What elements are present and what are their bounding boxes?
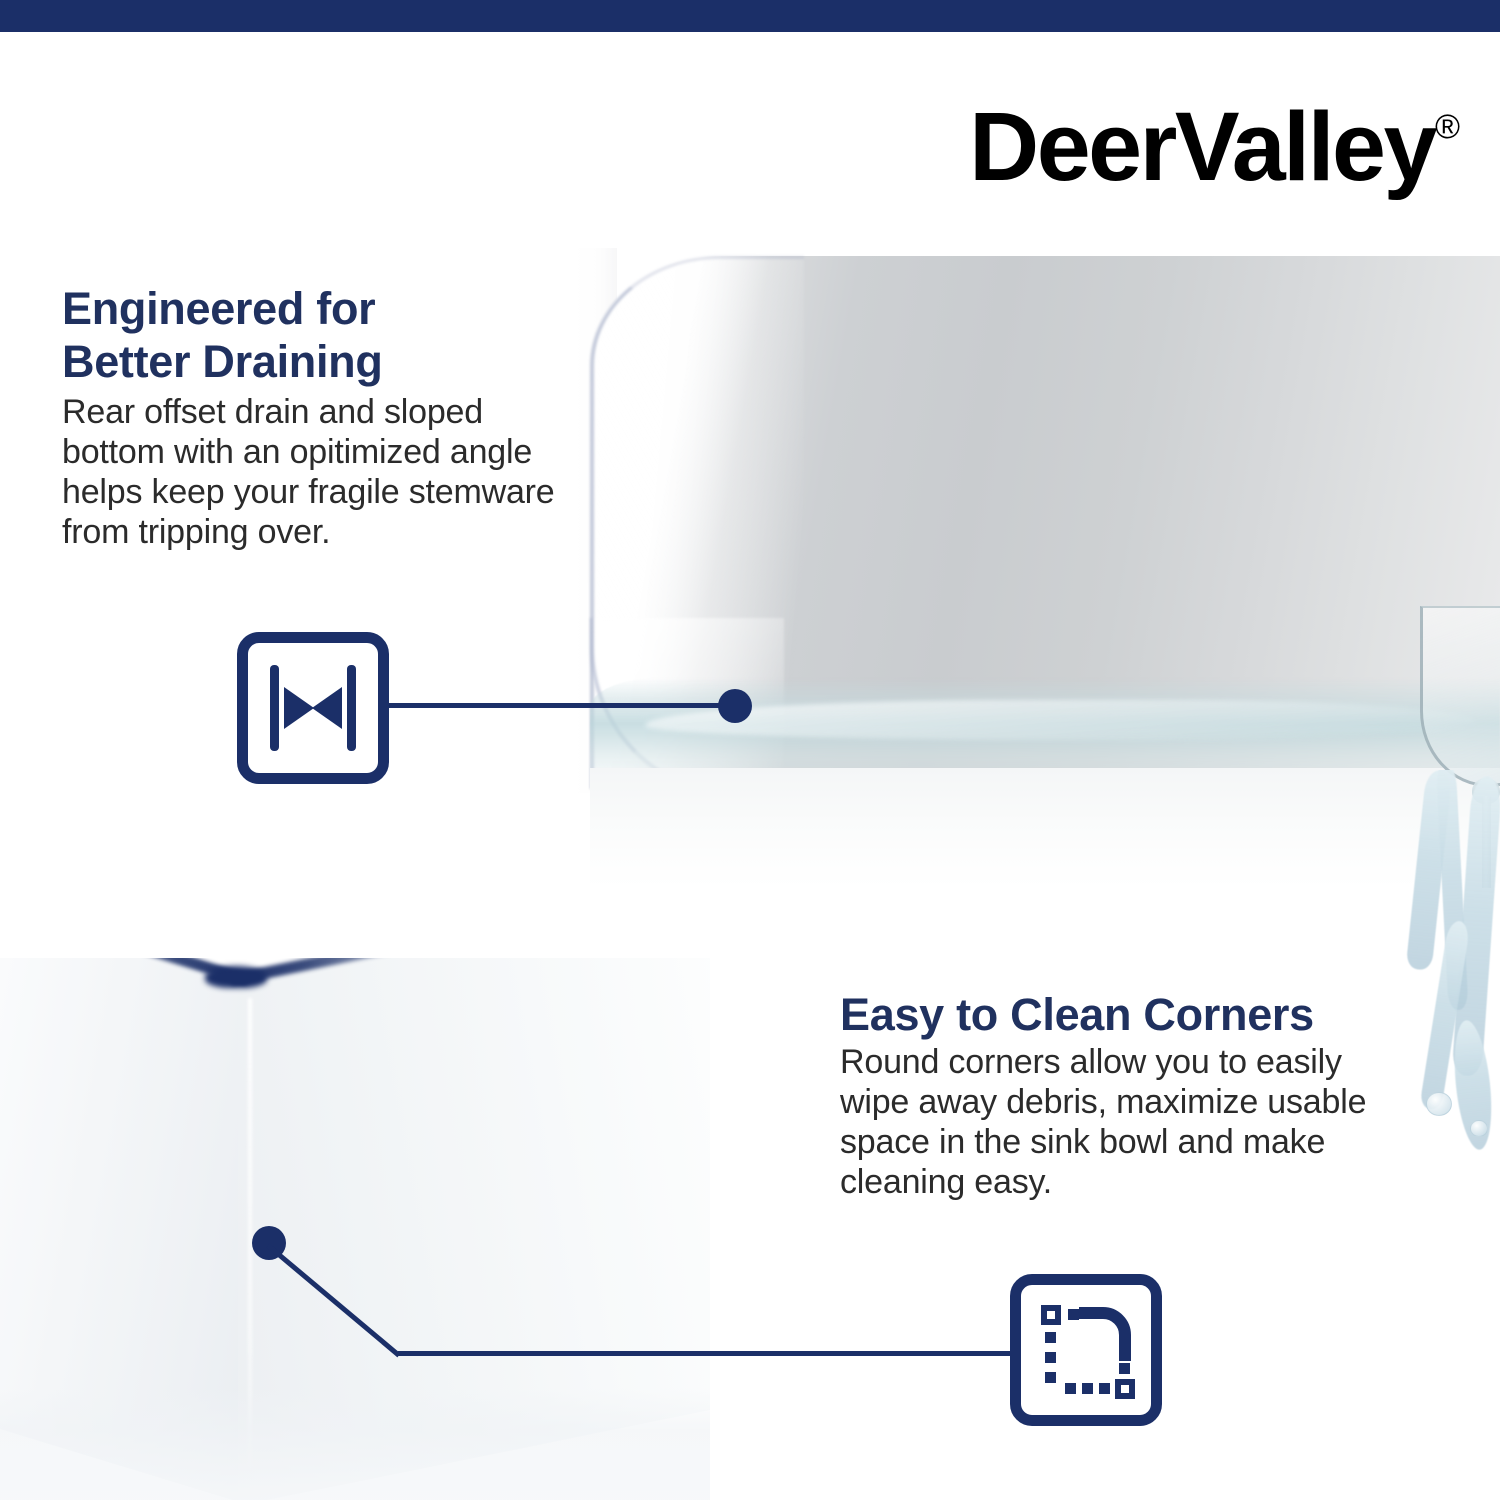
wine-glass-bowl <box>1420 606 1500 787</box>
feature-2-heading: Easy to Clean Corners <box>840 988 1400 1041</box>
photo-sink-corner-closeup <box>0 958 710 1500</box>
rounded-corner-icon[interactable] <box>1010 1274 1162 1426</box>
callout-dot-1 <box>718 689 752 723</box>
sink-apron-shade <box>0 1388 710 1500</box>
sink-corner-edge <box>205 966 267 988</box>
photo-sink-interior-with-wine-glasses <box>575 248 1500 888</box>
water-overflow-stream <box>1398 770 1500 1160</box>
sink-floor <box>590 768 1500 888</box>
water-droplet <box>1426 1092 1452 1116</box>
feature-1-heading-line-2: Better Draining <box>62 335 582 388</box>
narrow-drain-icon-glyph <box>248 643 378 773</box>
water-droplet <box>1470 1120 1488 1137</box>
feature-1-body: Rear offset drain and sloped bottom with… <box>62 392 592 552</box>
sink-water-crest <box>645 700 1475 740</box>
top-navy-band <box>0 0 1500 32</box>
feature-2-body: Round corners allow you to easily wipe a… <box>840 1042 1385 1202</box>
narrow-drain-icon[interactable] <box>237 632 389 784</box>
callout-connector-line-2 <box>398 1351 1018 1356</box>
rounded-corner-icon-glyph <box>1021 1285 1151 1415</box>
infographic-canvas: DeerValley® <box>0 0 1500 1500</box>
registered-trademark-icon: ® <box>1435 108 1460 146</box>
callout-connector-line-1 <box>385 703 737 708</box>
feature-1-heading: Engineered for Better Draining <box>62 282 582 388</box>
brand-logo: DeerValley® <box>920 72 1460 182</box>
feature-1-heading-line-1: Engineered for <box>62 282 582 335</box>
brand-logo-text: DeerValley <box>969 92 1435 201</box>
